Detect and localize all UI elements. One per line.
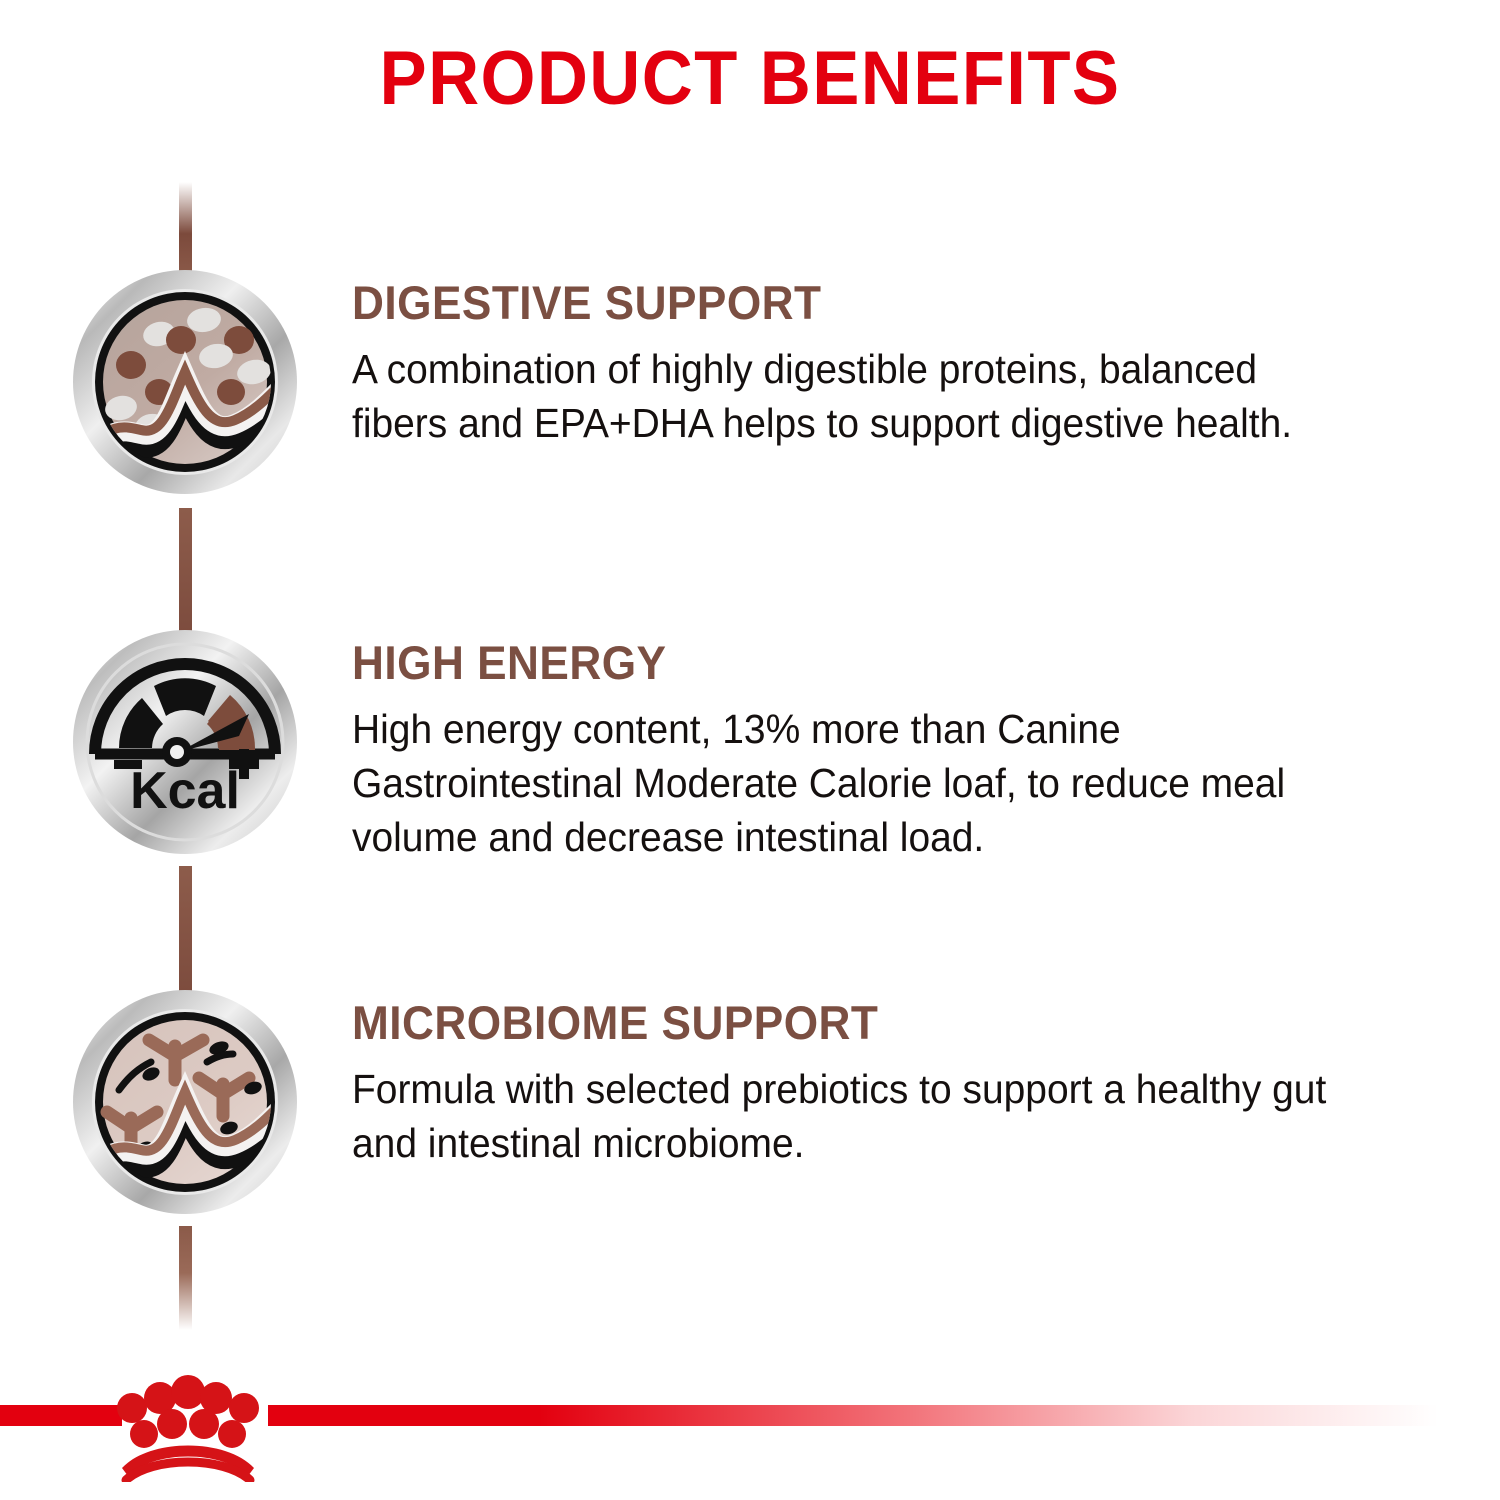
benefit-text-microbiome-support: MICROBIOME SUPPORT Formula with selected…	[352, 996, 1382, 1170]
microbiome-support-badge-icon	[71, 988, 299, 1216]
timeline-spine-segment-bottom	[179, 1226, 192, 1330]
benefit-body: A combination of highly digestible prote…	[352, 342, 1331, 450]
timeline-spine-segment-1	[179, 508, 192, 634]
timeline-spine-segment-top	[179, 182, 192, 276]
digestive-support-badge-icon	[71, 268, 299, 496]
benefit-item-microbiome-support: MICROBIOME SUPPORT Formula with selected…	[0, 988, 1420, 1228]
benefit-text-digestive-support: DIGESTIVE SUPPORT A combination of highl…	[352, 276, 1382, 450]
footer-bar-right	[268, 1405, 1500, 1426]
royal-canin-crown-logo	[108, 1372, 268, 1482]
benefit-item-high-energy: Kcal HIGH ENERGY High energy content, 13…	[0, 628, 1420, 868]
page-title: PRODUCT BENEFITS	[53, 36, 1448, 122]
benefit-text-high-energy: HIGH ENERGY High energy content, 13% mor…	[352, 636, 1382, 864]
benefit-item-digestive-support: DIGESTIVE SUPPORT A combination of highl…	[0, 268, 1420, 508]
benefit-heading: DIGESTIVE SUPPORT	[352, 276, 1320, 330]
benefit-body: High energy content, 13% more than Canin…	[352, 702, 1331, 864]
footer	[0, 1360, 1500, 1500]
footer-bar-left	[0, 1405, 122, 1426]
gauge-kcal-label: Kcal	[130, 762, 240, 820]
benefit-heading: HIGH ENERGY	[352, 636, 1320, 690]
high-energy-kcal-gauge-icon: Kcal	[71, 628, 299, 856]
benefit-body: Formula with selected prebiotics to supp…	[352, 1062, 1331, 1170]
benefit-heading: MICROBIOME SUPPORT	[352, 996, 1320, 1050]
timeline-spine-segment-2	[179, 866, 192, 992]
